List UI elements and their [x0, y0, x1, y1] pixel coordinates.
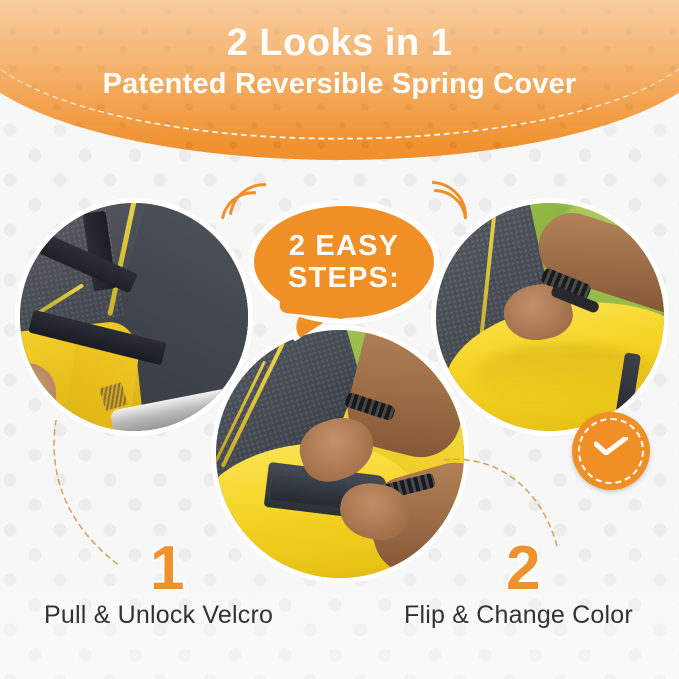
page-subtitle: Patented Reversible Spring Cover — [103, 66, 577, 102]
step-caption-2: Flip & Change Color — [404, 600, 633, 630]
check-badge — [572, 412, 650, 490]
bubble-line-1: 2 EASY — [289, 230, 399, 262]
header-banner: 2 Looks in 1 Patented Reversible Spring … — [0, 0, 679, 160]
speech-bubble: 2 EASY STEPS: — [228, 186, 458, 366]
step-photo-finished-yellow — [436, 203, 664, 431]
step-number-1: 1 — [150, 538, 184, 600]
step-number-2: 2 — [506, 538, 540, 600]
step-photo-pull-velcro — [20, 203, 248, 431]
infographic-page: 2 Looks in 1 Patented Reversible Spring … — [0, 0, 679, 679]
banner-text-block: 2 Looks in 1 Patented Reversible Spring … — [0, 0, 679, 130]
check-icon — [594, 437, 628, 455]
step-photo-flip-cover — [216, 330, 464, 578]
page-title: 2 Looks in 1 — [227, 22, 453, 64]
step-caption-1: Pull & Unlock Velcro — [44, 600, 273, 630]
